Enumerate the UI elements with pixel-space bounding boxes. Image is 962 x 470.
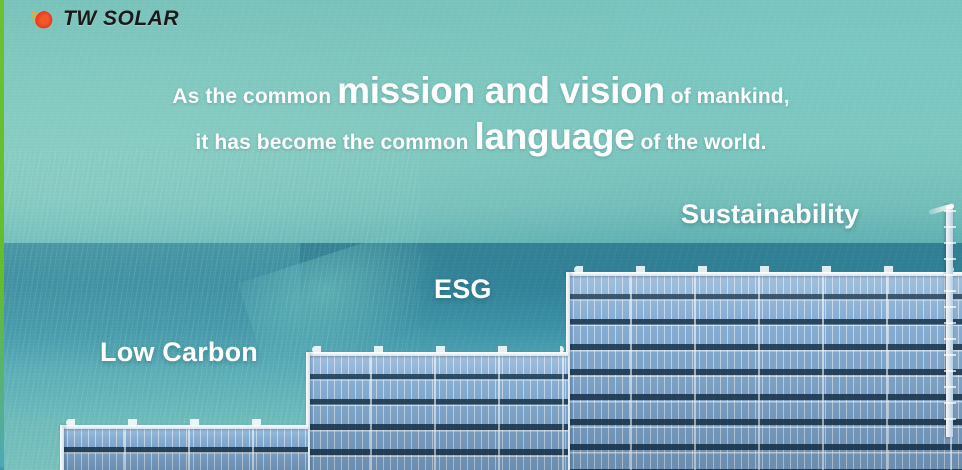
step-label-low-carbon: Low Carbon bbox=[100, 337, 258, 368]
slide-canvas: TW SOLAR As the common mission and visio… bbox=[0, 0, 962, 470]
tier-buoys-sustainability bbox=[574, 266, 954, 273]
headline-line2-prefix: it has become the common bbox=[195, 131, 474, 154]
tier-buoys-esg bbox=[312, 346, 564, 353]
step-label-esg: ESG bbox=[434, 274, 492, 305]
solar-array-tier-low-carbon bbox=[60, 428, 308, 470]
headline-block: As the common mission and vision of mank… bbox=[0, 72, 962, 157]
headline-line-2: it has become the common language of the… bbox=[0, 118, 962, 157]
headline-line1-emphasis: mission and vision bbox=[337, 70, 665, 111]
tier-buoys-low-carbon bbox=[66, 419, 306, 426]
panel-shading bbox=[60, 428, 308, 470]
sun-flower-logo-icon bbox=[30, 6, 56, 32]
brand-name: TW SOLAR bbox=[63, 7, 179, 31]
headline-line1-prefix: As the common bbox=[172, 85, 337, 108]
solar-array-tier-sustainability bbox=[566, 275, 962, 470]
tier-support-post-low-carbon bbox=[60, 425, 64, 470]
panel-shading bbox=[306, 355, 568, 470]
headline-line1-suffix: of mankind, bbox=[665, 85, 790, 108]
mast-ladder-rungs bbox=[944, 210, 956, 430]
panel-shading bbox=[566, 275, 962, 470]
left-green-accent-bar bbox=[0, 0, 4, 470]
brand-logo[interactable]: TW SOLAR bbox=[30, 6, 179, 32]
headline-line-1: As the common mission and vision of mank… bbox=[0, 72, 962, 111]
headline-line2-emphasis: language bbox=[474, 116, 634, 157]
headline-line2-suffix: of the world. bbox=[635, 131, 767, 154]
solar-array-tier-esg bbox=[306, 355, 568, 470]
step-label-sustainability: Sustainability bbox=[681, 199, 859, 230]
